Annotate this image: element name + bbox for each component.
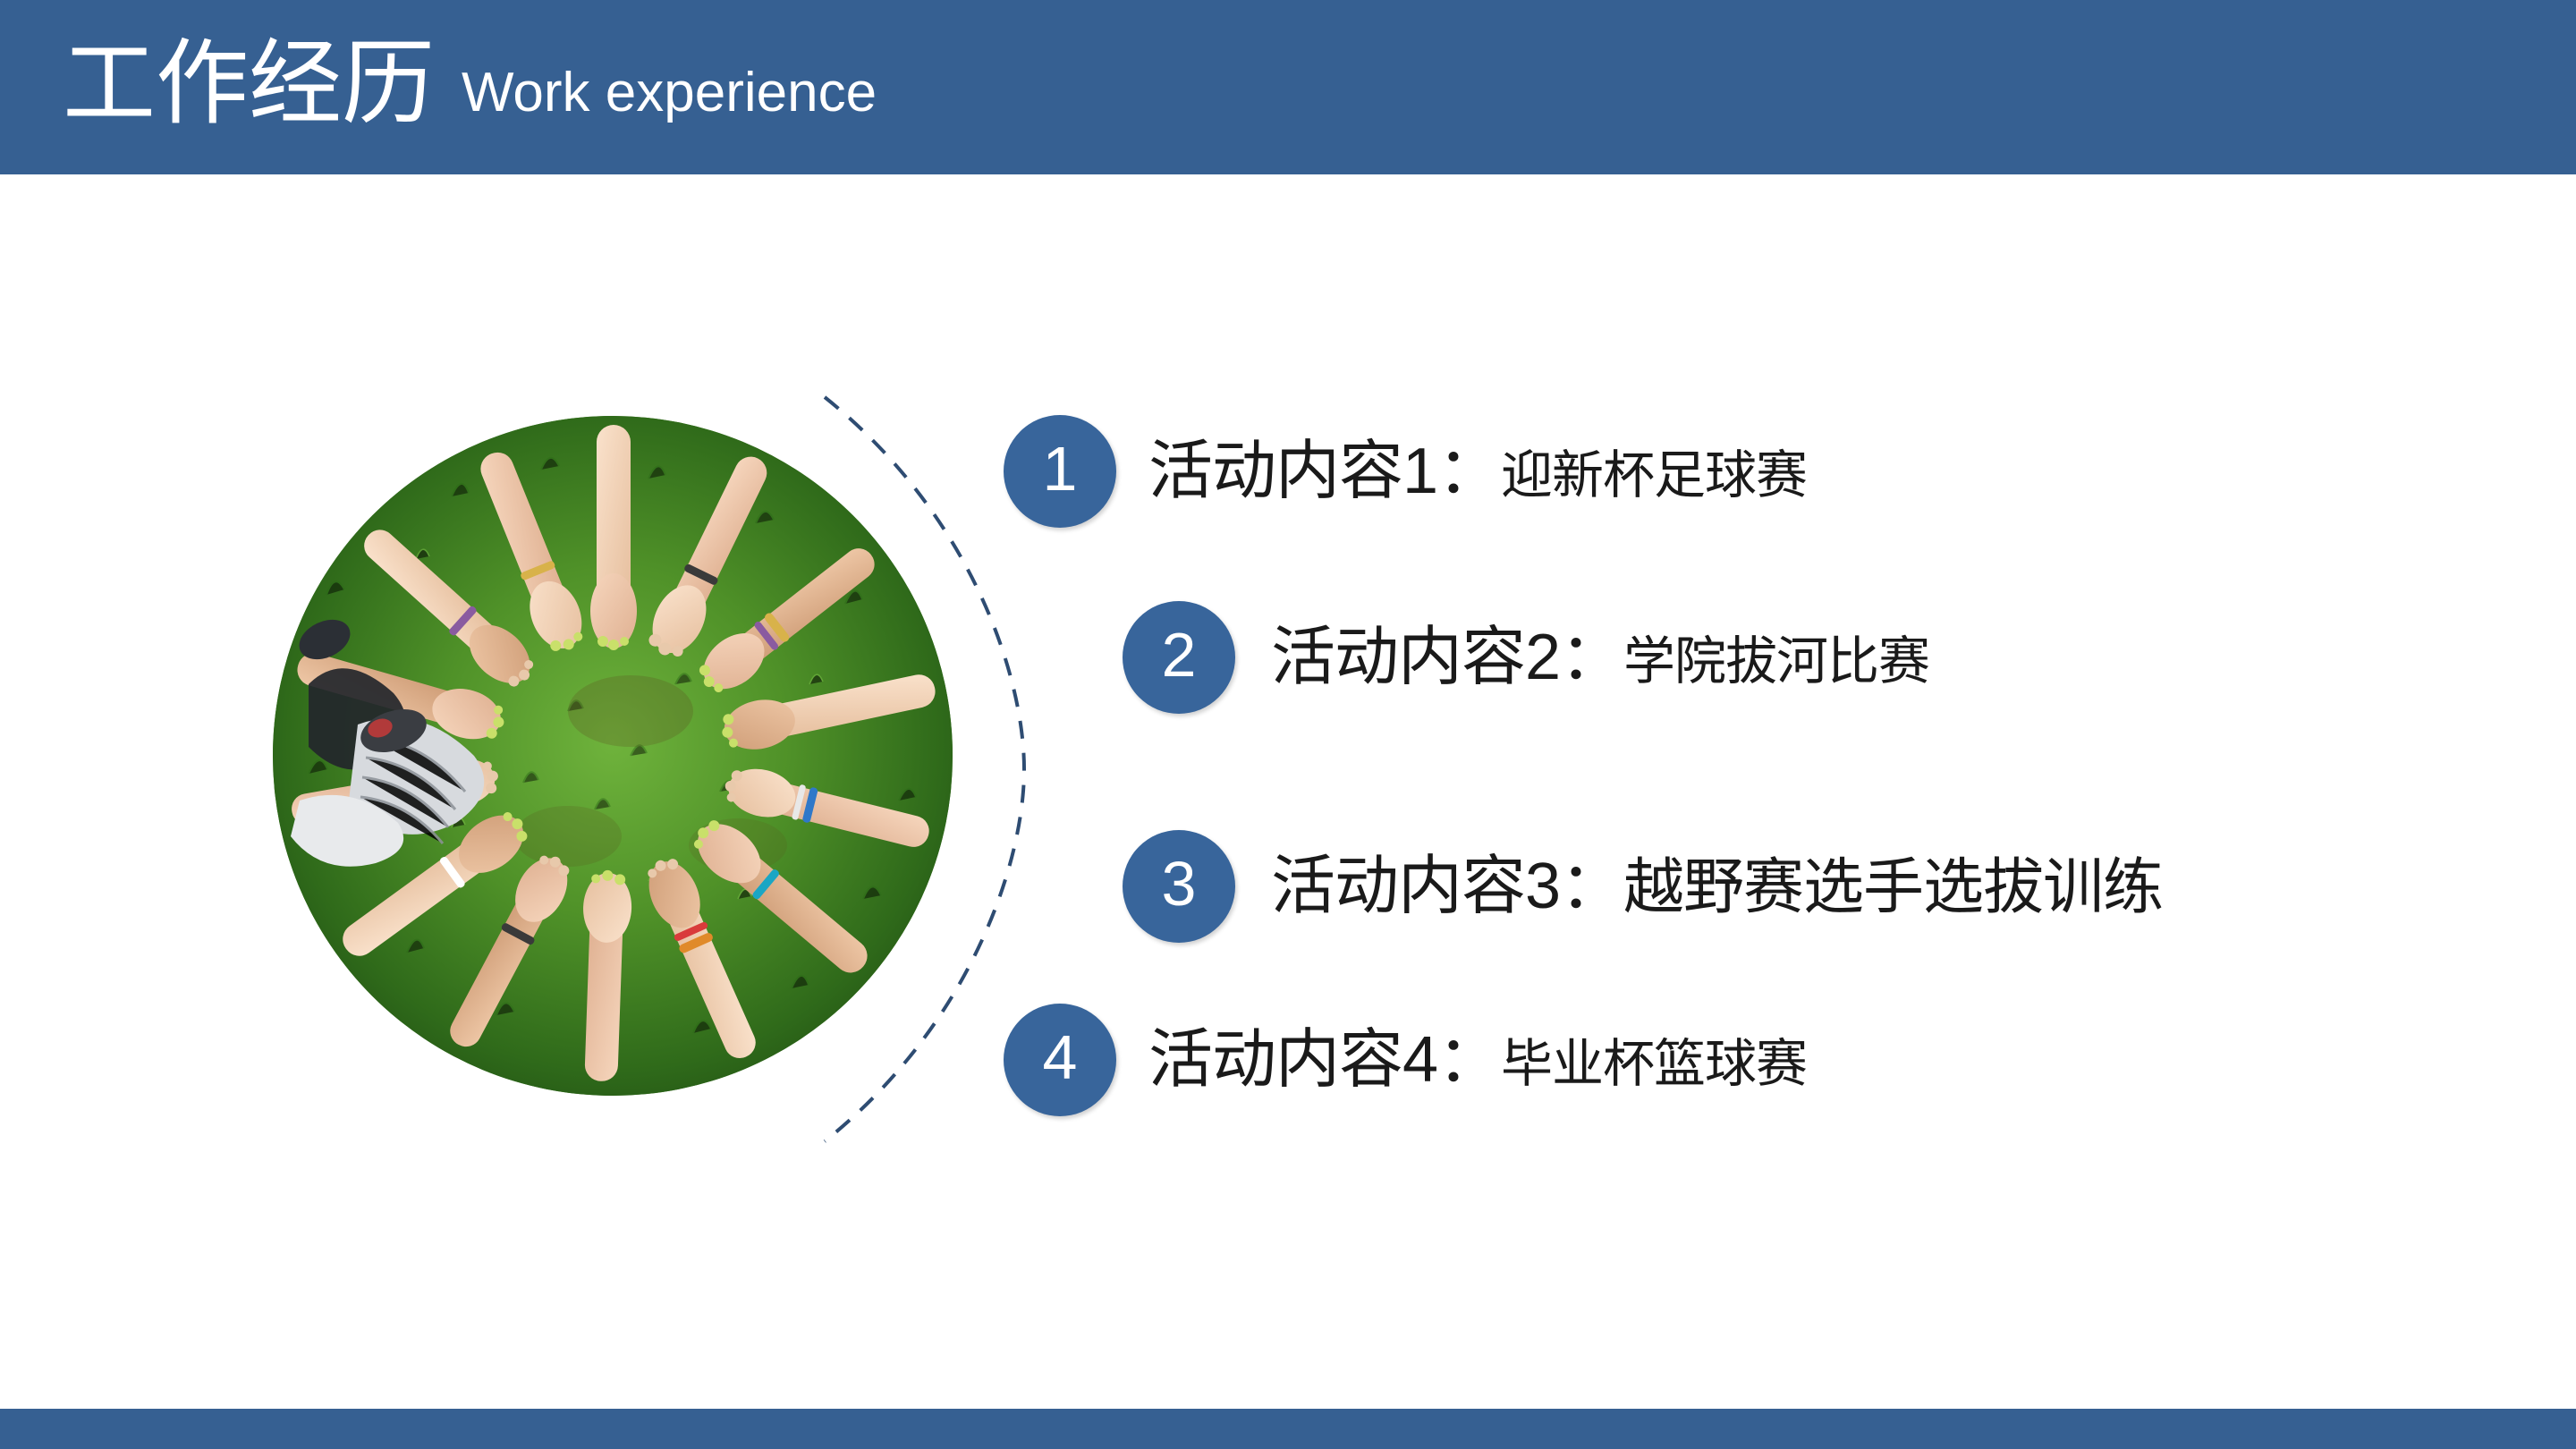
list-item-number: 1	[1043, 437, 1078, 500]
list-item-number-badge: 4	[1004, 1004, 1116, 1116]
list-item-label: 活动内容4：	[1148, 1028, 1501, 1092]
list-item-detail: 迎新杯足球赛	[1501, 450, 1807, 502]
list-item-number: 2	[1162, 623, 1197, 686]
list-item[interactable]: 2 活动内容2： 学院拔河比赛	[1123, 601, 1929, 714]
list-item-number: 4	[1043, 1026, 1078, 1089]
list-item-detail: 越野赛选手选拔训练	[1623, 857, 2163, 918]
list-item[interactable]: 1 活动内容1： 迎新杯足球赛	[1004, 415, 1807, 528]
list-item-text: 活动内容4： 毕业杯篮球赛	[1148, 1028, 1807, 1092]
list-item-number-badge: 1	[1004, 415, 1116, 528]
list-item-text: 活动内容2： 学院拔河比赛	[1271, 625, 1929, 690]
list-item-detail: 毕业杯篮球赛	[1501, 1038, 1807, 1090]
list-item-number: 3	[1162, 852, 1197, 915]
list-item-number-badge: 3	[1123, 830, 1235, 943]
list-item-detail: 学院拔河比赛	[1623, 636, 1929, 688]
footer-bar	[0, 1409, 2576, 1449]
activity-list: 1 活动内容1： 迎新杯足球赛 2 活动内容2： 学院拔河比赛 3 活动内容3：…	[0, 0, 2576, 1449]
list-item-label: 活动内容3：	[1271, 854, 1623, 919]
list-item-number-badge: 2	[1123, 601, 1235, 714]
list-item[interactable]: 3 活动内容3： 越野赛选手选拔训练	[1123, 830, 2163, 943]
slide-canvas: 工作经历 Work experience	[0, 0, 2576, 1449]
list-item[interactable]: 4 活动内容4： 毕业杯篮球赛	[1004, 1004, 1807, 1116]
list-item-label: 活动内容1：	[1148, 439, 1501, 504]
list-item-text: 活动内容1： 迎新杯足球赛	[1148, 439, 1807, 504]
list-item-label: 活动内容2：	[1271, 625, 1623, 690]
list-item-text: 活动内容3： 越野赛选手选拔训练	[1271, 854, 2163, 919]
